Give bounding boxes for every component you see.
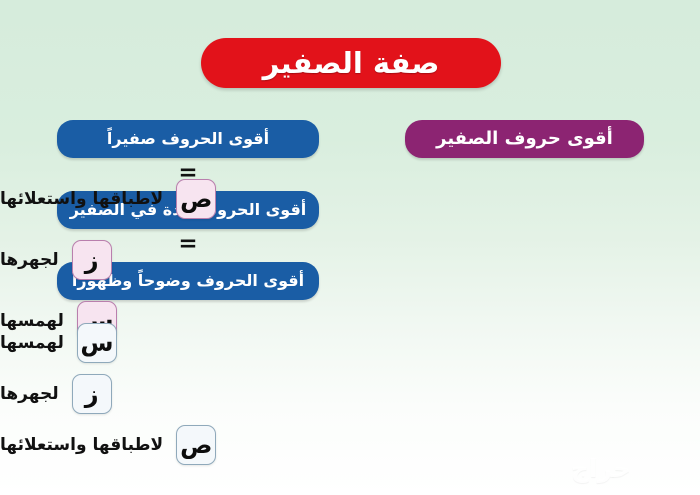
right-letter-row-1: ص لاطباقها واستعلائها: [0, 179, 645, 219]
left-letter-row-3: ص لاطباقها واستعلائها: [0, 425, 287, 465]
left-letter-row-1-reason: لهمسها: [0, 335, 64, 352]
left-letter-chip-2-glyph: ز: [85, 382, 99, 406]
right-letter-chip-2: ز: [72, 240, 112, 280]
page-title-text: صفة الصفير: [263, 49, 440, 78]
right-letter-chip-1: ص: [176, 179, 216, 219]
left-letter-chip-3-glyph: ص: [180, 433, 212, 457]
definition-box-1: أقوى الحروف صفيراً: [57, 120, 319, 158]
left-letter-row-2-inner: ز لجهرها: [0, 374, 112, 414]
right-letter-row-2-reason: لجهرها: [0, 252, 59, 269]
strongest-letters-heading: أقوى حروف الصفير: [405, 120, 644, 158]
right-letter-chip-1-glyph: ص: [180, 187, 212, 211]
right-letter-row-1-reason: لاطباقها واستعلائها: [0, 191, 163, 208]
left-letter-chip-1-glyph: س: [80, 331, 113, 355]
left-letter-row-1: س لهمسها: [0, 323, 287, 363]
right-letter-chip-2-glyph: ز: [85, 248, 99, 272]
right-letter-row-2-inner: ز لجهرها: [0, 240, 112, 280]
page-title: صفة الصفير: [201, 38, 501, 88]
right-letter-row-1-inner: ص لاطباقها واستعلائها: [0, 179, 216, 219]
right-letter-row-2: ز لجهرها: [0, 240, 645, 280]
left-letter-row-3-reason: لاطباقها واستعلائها: [0, 437, 163, 454]
left-letter-row-1-inner: س لهمسها: [0, 323, 117, 363]
left-letter-row-2: ز لجهرها: [0, 374, 287, 414]
watermark: حراج: [536, 448, 666, 488]
left-letter-chip-3: ص: [176, 425, 216, 465]
strongest-letters-heading-text: أقوى حروف الصفير: [436, 130, 613, 148]
left-letter-row-2-reason: لجهرها: [0, 386, 59, 403]
left-letter-chip-2: ز: [72, 374, 112, 414]
left-letter-row-3-inner: ص لاطباقها واستعلائها: [0, 425, 216, 465]
left-letter-chip-1: س: [77, 323, 117, 363]
slide-canvas: صفة الصفير أقوى الحروف صفيراً = أقوى الح…: [0, 0, 700, 495]
definition-box-1-text: أقوى الحروف صفيراً: [107, 131, 269, 147]
